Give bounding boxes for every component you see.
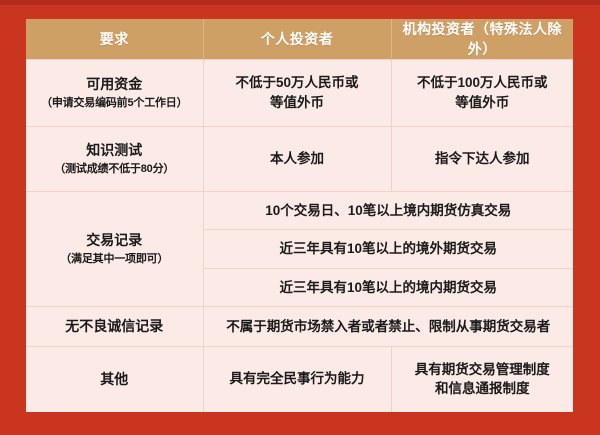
- requirement-title: 交易记录: [32, 230, 197, 250]
- value-line: 具有期货交易管理制度: [398, 360, 568, 380]
- column-header-institutional-investor: 机构投资者（特殊法人除外）: [391, 19, 573, 60]
- requirement-label-knowledge-test: 知识测试 （测试成绩不低于80分）: [26, 126, 203, 191]
- value-institution-available-funds: 不低于100万人民币或 等值外币: [391, 60, 573, 127]
- requirement-title: 可用资金: [32, 74, 197, 94]
- requirements-table-container: 要求 个人投资者 机构投资者（特殊法人除外） 可用资金 （申请交易编码前5个工作…: [26, 19, 573, 412]
- value-individual-available-funds: 不低于50万人民币或 等值外币: [203, 60, 391, 127]
- requirement-label-trading-record: 交易记录 （满足其中一项即可）: [26, 191, 203, 306]
- column-header-individual-investor: 个人投资者: [203, 19, 391, 60]
- requirement-label-other: 其他: [26, 346, 203, 412]
- table-row-no-bad-credit: 无不良诚信记录 不属于期货市场禁入者或者禁止、限制从事期货交易者: [26, 307, 573, 346]
- table-header-row: 要求 个人投资者 机构投资者（特殊法人除外）: [26, 19, 573, 60]
- requirement-note: （申请交易编码前5个工作日）: [32, 96, 197, 112]
- value-merged-trading-record-2: 近三年具有10笔以上的境外期货交易: [203, 230, 573, 268]
- value-line: 等值外币: [210, 93, 385, 113]
- table-row-available-funds: 可用资金 （申请交易编码前5个工作日） 不低于50万人民币或 等值外币 不低于1…: [26, 60, 573, 127]
- requirement-label-available-funds: 可用资金 （申请交易编码前5个工作日）: [26, 60, 203, 127]
- value-merged-no-bad-credit: 不属于期货市场禁入者或者禁止、限制从事期货交易者: [203, 307, 573, 346]
- value-line: 和信息通报制度: [398, 379, 568, 399]
- value-merged-trading-record-1: 10个交易日、10笔以上境内期货仿真交易: [203, 191, 573, 229]
- table-row-other: 其他 具有完全民事行为能力 具有期货交易管理制度 和信息通报制度: [26, 346, 573, 412]
- table-row-trading-record-1: 交易记录 （满足其中一项即可） 10个交易日、10笔以上境内期货仿真交易: [26, 191, 573, 229]
- value-line: 等值外币: [398, 93, 568, 113]
- value-merged-trading-record-3: 近三年具有10笔以上的境内期货交易: [203, 268, 573, 306]
- top-accent-strip: [0, 0, 600, 5]
- value-line: 不低于50万人民币或: [210, 73, 385, 93]
- value-institution-other: 具有期货交易管理制度 和信息通报制度: [391, 346, 573, 412]
- requirement-note: （测试成绩不低于80分）: [32, 162, 197, 178]
- requirement-label-no-bad-credit: 无不良诚信记录: [26, 307, 203, 346]
- value-individual-other: 具有完全民事行为能力: [203, 346, 391, 412]
- investor-requirements-table: 要求 个人投资者 机构投资者（特殊法人除外） 可用资金 （申请交易编码前5个工作…: [26, 19, 573, 412]
- requirement-title: 知识测试: [32, 140, 197, 160]
- value-individual-knowledge-test: 本人参加: [203, 126, 391, 191]
- value-institution-knowledge-test: 指令下达人参加: [391, 126, 573, 191]
- requirement-note: （满足其中一项即可）: [32, 252, 197, 268]
- value-line: 不低于100万人民币或: [398, 73, 568, 93]
- column-header-requirement: 要求: [26, 19, 203, 60]
- table-row-knowledge-test: 知识测试 （测试成绩不低于80分） 本人参加 指令下达人参加: [26, 126, 573, 191]
